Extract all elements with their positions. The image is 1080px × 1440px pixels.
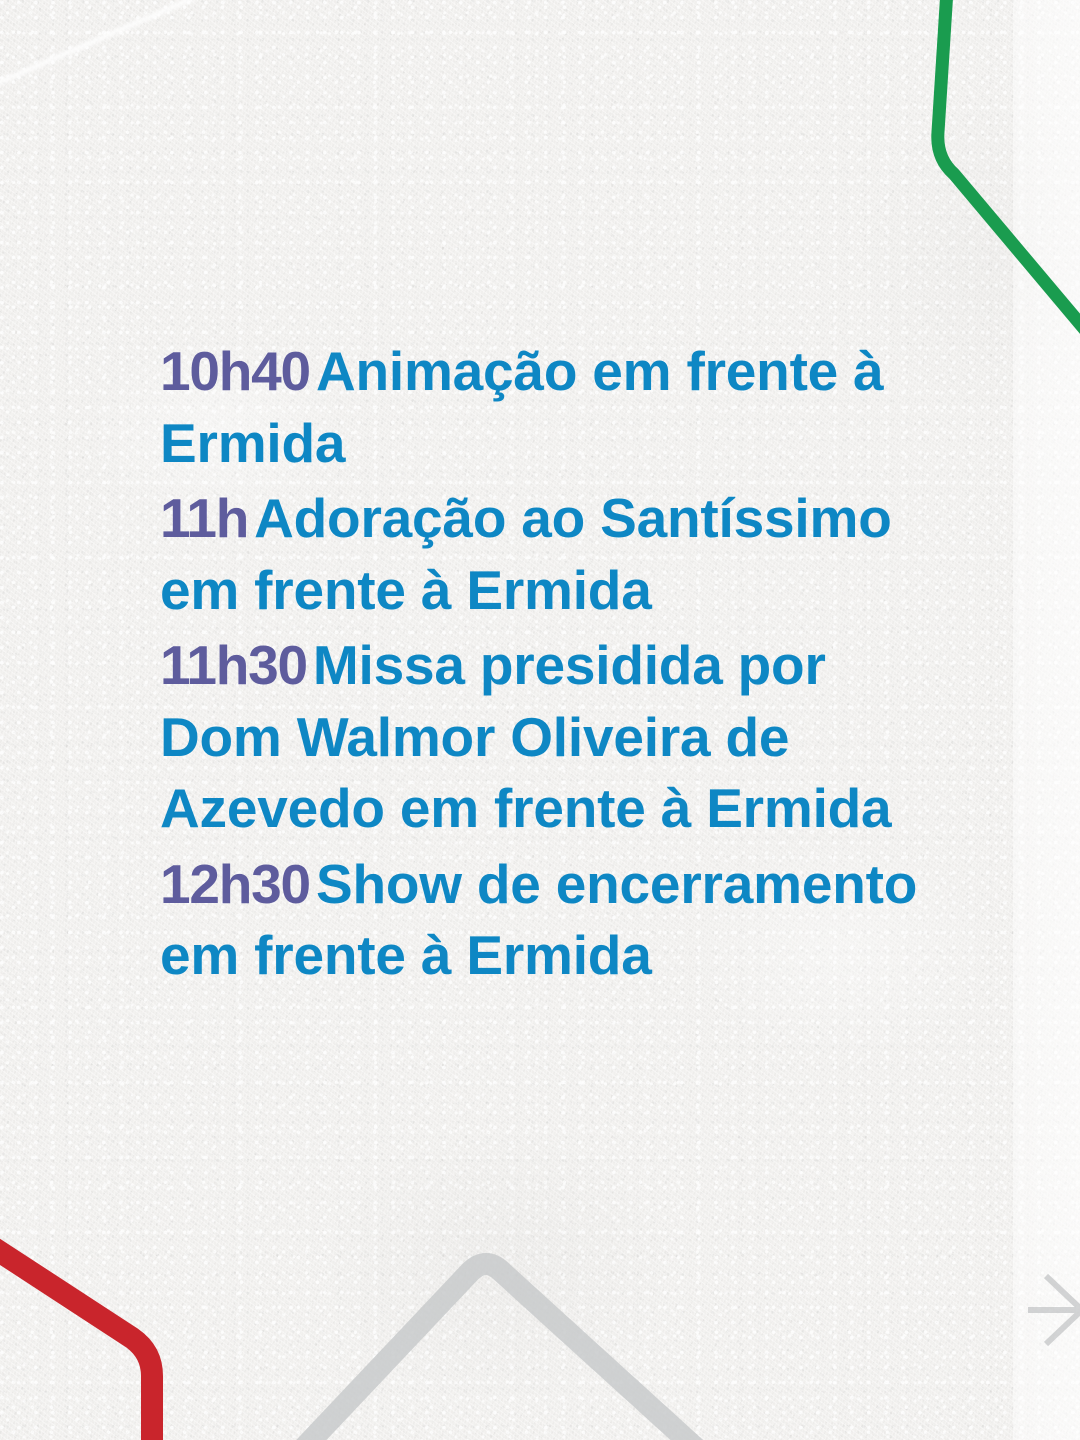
schedule-item: 11h30Missa presidida por Dom Walmor Oliv… [160,630,950,845]
schedule-item: 11hAdoração ao Santíssimo em frente à Er… [160,483,950,626]
schedule-item-time: 11h [160,487,248,549]
poster-canvas: 10h40Animação em frente à Ermida 11hAdor… [0,0,1080,1440]
schedule-list: 10h40Animação em frente à Ermida 11hAdor… [160,336,950,996]
schedule-item-time: 11h30 [160,634,307,696]
schedule-item: 12h30Show de encerramento em frente à Er… [160,849,950,992]
schedule-item-time: 12h30 [160,853,310,915]
schedule-item-description: Adoração ao Santíssimo em frente à Ermid… [160,487,892,621]
schedule-item: 10h40Animação em frente à Ermida [160,336,950,479]
schedule-item-time: 10h40 [160,340,310,402]
